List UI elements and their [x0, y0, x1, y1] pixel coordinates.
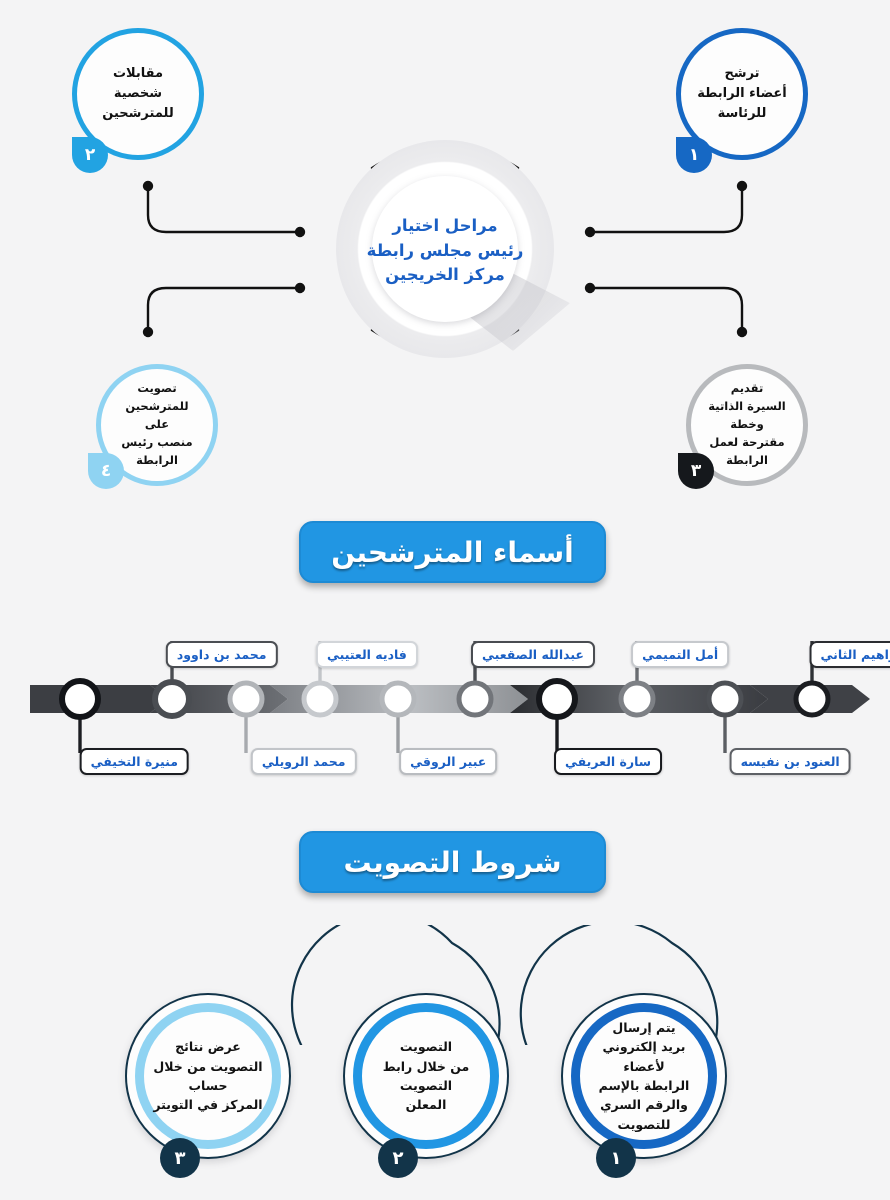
stage-3-number-badge: ٣ [678, 453, 714, 489]
central-hub-title: مراحل اختيار رئيس مجلس رابطة مركز الخريج… [360, 186, 530, 316]
voting-condition-3-badge: ٣ [160, 1138, 200, 1178]
voting-3-line-3: المركز في التويتر [149, 1095, 267, 1114]
voting-1-line-1: يتم إرسال [585, 1018, 703, 1037]
voting-1-line-4: للتصويت [585, 1115, 703, 1134]
stage-2-number-badge: ٢ [72, 137, 108, 173]
stage-4-text: تصويت للمترشحين على منصب رئيس الرابطة [101, 380, 213, 469]
timeline-top-label-5[interactable]: محمد بن داوود [166, 641, 278, 668]
stage-1-line-2: أعضاء الرابطة [697, 84, 787, 104]
voting-condition-1-badge: ١ [596, 1138, 636, 1178]
stage-2-line-2: للمترشحين [91, 104, 185, 124]
timeline-bottom-label-4[interactable]: محمد الرويلي [251, 748, 357, 775]
voting-condition-2-text: التصويت من خلال رابط التصويت المعلن [367, 1037, 485, 1115]
voting-3-line-2: التصويت من خلال حساب [149, 1057, 267, 1096]
timeline-bottom-label-1[interactable]: العنود بن نفيسه [730, 748, 851, 775]
timeline-top-label-2[interactable]: أمل التميمي [631, 641, 729, 668]
stage-3-line-4: الرابطة [705, 452, 789, 470]
hub-title-line-3: مركز الخريجين [385, 263, 505, 288]
hub-title-line-2: رئيس مجلس رابطة [367, 239, 524, 264]
hub-title-line-1: مراحل اختيار [392, 214, 497, 239]
voting-condition-circle-3[interactable]: عرض نتائج التصويت من خلال حساب المركز في… [125, 993, 291, 1159]
timeline-top-label-4[interactable]: فاديه العتيبي [316, 641, 418, 668]
voting-2-line-1: التصويت [367, 1037, 485, 1056]
stage-4-line-3: منصب رئيس الرابطة [115, 434, 199, 470]
voting-condition-2-badge: ٢ [378, 1138, 418, 1178]
stage-3-line-2: السيرة الذاتية وخطة [705, 398, 789, 434]
voting-1-line-2: بريد إلكتروني لأعضاء [585, 1037, 703, 1076]
voting-condition-circle-1[interactable]: يتم إرسال بريد إلكتروني لأعضاء الرابطة ب… [561, 993, 727, 1159]
timeline-bottom-label-5[interactable]: منيرة التخيفي [80, 748, 189, 775]
voting-3-line-1: عرض نتائج [149, 1037, 267, 1056]
timeline-bottom-label-2[interactable]: سارة العريفي [554, 748, 662, 775]
timeline-bottom-label-3[interactable]: عبير الروقي [399, 748, 497, 775]
stage-3-text: تقديم السيرة الذاتية وخطة مقترحة لعمل ال… [691, 380, 803, 469]
stage-1-text: ترشح أعضاء الرابطة للرئاسة [683, 64, 801, 124]
voting-condition-3-text: عرض نتائج التصويت من خلال حساب المركز في… [149, 1037, 267, 1115]
stage-1-line-3: للرئاسة [697, 104, 787, 124]
voting-conditions-banner: شروط التصويت [299, 831, 606, 893]
candidates-banner: أسماء المترشحين [299, 521, 606, 583]
timeline-top-label-1[interactable]: ابراهيم الثاني [810, 641, 890, 668]
stage-4-number-badge: ٤ [88, 453, 124, 489]
infographic-canvas: مراحل اختيار رئيس مجلس رابطة مركز الخريج… [0, 0, 890, 1200]
stage-1-number-badge: ١ [676, 137, 712, 173]
voting-condition-1-text: يتم إرسال بريد إلكتروني لأعضاء الرابطة ب… [585, 1018, 703, 1134]
stage-4-line-1: تصويت [115, 380, 199, 398]
voting-condition-circle-2[interactable]: التصويت من خلال رابط التصويت المعلن [343, 993, 509, 1159]
stage-2-text: مقابلات شخصية للمترشحين [77, 64, 199, 124]
stage-2-line-1: مقابلات شخصية [91, 64, 185, 104]
stage-1-line-1: ترشح [697, 64, 787, 84]
stage-4-line-2: للمترشحين على [115, 398, 199, 434]
voting-2-line-2: من خلال رابط التصويت [367, 1057, 485, 1096]
timeline-top-label-3[interactable]: عبدالله الصقعبي [471, 641, 595, 668]
voting-2-line-3: المعلن [367, 1095, 485, 1114]
voting-1-line-3: الرابطة بالإسم والرقم السري [585, 1076, 703, 1115]
stage-3-line-1: تقديم [705, 380, 789, 398]
stage-3-line-3: مقترحة لعمل [705, 434, 789, 452]
